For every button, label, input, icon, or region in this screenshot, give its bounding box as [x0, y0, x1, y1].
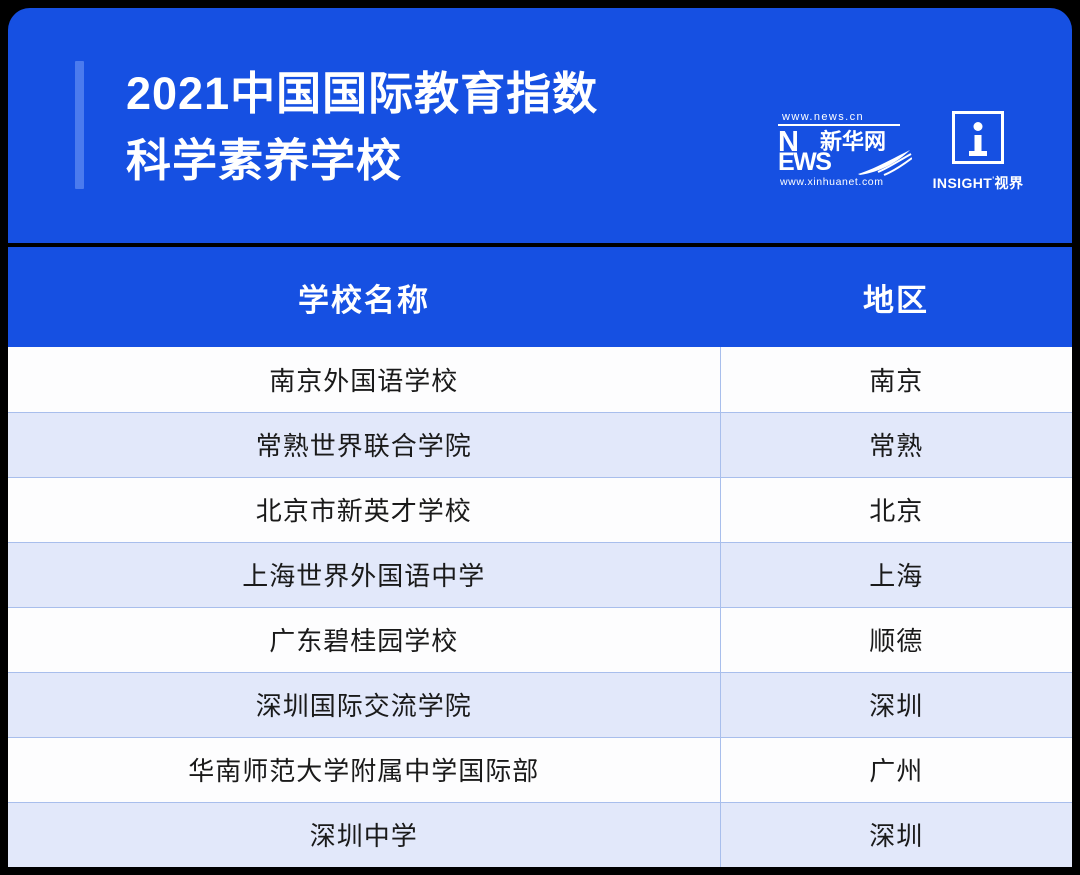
insight-wordmark: INSIGHT'视界 — [933, 173, 1024, 193]
table-row: 深圳国际交流学院深圳 — [8, 672, 1072, 737]
xinhua-url-top-text: www.news.cn — [778, 111, 906, 123]
insight-i-base-icon — [969, 151, 987, 156]
cell-region: 深圳 — [720, 672, 1072, 737]
cell-school-name: 上海世界外国语中学 — [8, 542, 720, 607]
logo-group: www.news.cn N EWS 新华网 www.xinhuanet.com — [778, 111, 1024, 193]
cell-region: 顺德 — [720, 607, 1072, 672]
insight-i-dot-icon — [974, 122, 983, 131]
xinhua-wordmark: N EWS 新华网 — [778, 128, 906, 176]
ranking-table-container: 学校名称 地区 南京外国语学校南京常熟世界联合学院常熟北京市新英才学校北京上海世… — [8, 247, 1072, 867]
title-line-1: 2021中国国际教育指数 — [126, 60, 766, 127]
title-accent-bar — [75, 61, 84, 189]
table-row: 南京外国语学校南京 — [8, 347, 1072, 412]
table-body: 南京外国语学校南京常熟世界联合学院常熟北京市新英才学校北京上海世界外国语中学上海… — [8, 347, 1072, 867]
insight-frame-icon — [952, 111, 1004, 164]
cell-region: 广州 — [720, 737, 1072, 802]
cell-school-name: 南京外国语学校 — [8, 347, 720, 412]
cell-school-name: 北京市新英才学校 — [8, 477, 720, 542]
cell-region: 南京 — [720, 347, 1072, 412]
table-row: 北京市新英才学校北京 — [8, 477, 1072, 542]
table-header-row: 学校名称 地区 — [8, 247, 1072, 347]
column-header-region: 地区 — [720, 247, 1072, 347]
cell-school-name: 深圳国际交流学院 — [8, 672, 720, 737]
insight-logo: INSIGHT'视界 — [932, 111, 1024, 193]
column-header-school-name: 学校名称 — [8, 247, 720, 347]
header-banner: 2021中国国际教育指数 科学素养学校 www.news.cn N EWS 新华… — [8, 8, 1072, 243]
cell-region: 深圳 — [720, 802, 1072, 867]
infographic-page: 2021中国国际教育指数 科学素养学校 www.news.cn N EWS 新华… — [0, 0, 1080, 875]
xinhua-url-bottom-text: www.xinhuanet.com — [778, 176, 906, 188]
insight-wordmark-chinese: 视界 — [995, 175, 1024, 191]
table-row: 华南师范大学附属中学国际部广州 — [8, 737, 1072, 802]
table-row: 深圳中学深圳 — [8, 802, 1072, 867]
table-header: 学校名称 地区 — [8, 247, 1072, 347]
cell-school-name: 深圳中学 — [8, 802, 720, 867]
table-row: 常熟世界联合学院常熟 — [8, 412, 1072, 477]
cell-region: 北京 — [720, 477, 1072, 542]
cell-region: 常熟 — [720, 412, 1072, 477]
ranking-table: 学校名称 地区 南京外国语学校南京常熟世界联合学院常熟北京市新英才学校北京上海世… — [8, 247, 1072, 867]
cell-region: 上海 — [720, 542, 1072, 607]
xinhua-swoosh-icon — [856, 148, 912, 176]
page-title: 2021中国国际教育指数 科学素养学校 — [126, 60, 766, 194]
cell-school-name: 常熟世界联合学院 — [8, 412, 720, 477]
table-row: 广东碧桂园学校顺德 — [8, 607, 1072, 672]
insight-wordmark-latin: INSIGHT — [933, 175, 993, 191]
title-line-2: 科学素养学校 — [126, 127, 766, 194]
xinhuanet-logo: www.news.cn N EWS 新华网 www.xinhuanet.com — [778, 111, 906, 193]
cell-school-name: 华南师范大学附属中学国际部 — [8, 737, 720, 802]
cell-school-name: 广东碧桂园学校 — [8, 607, 720, 672]
table-row: 上海世界外国语中学上海 — [8, 542, 1072, 607]
